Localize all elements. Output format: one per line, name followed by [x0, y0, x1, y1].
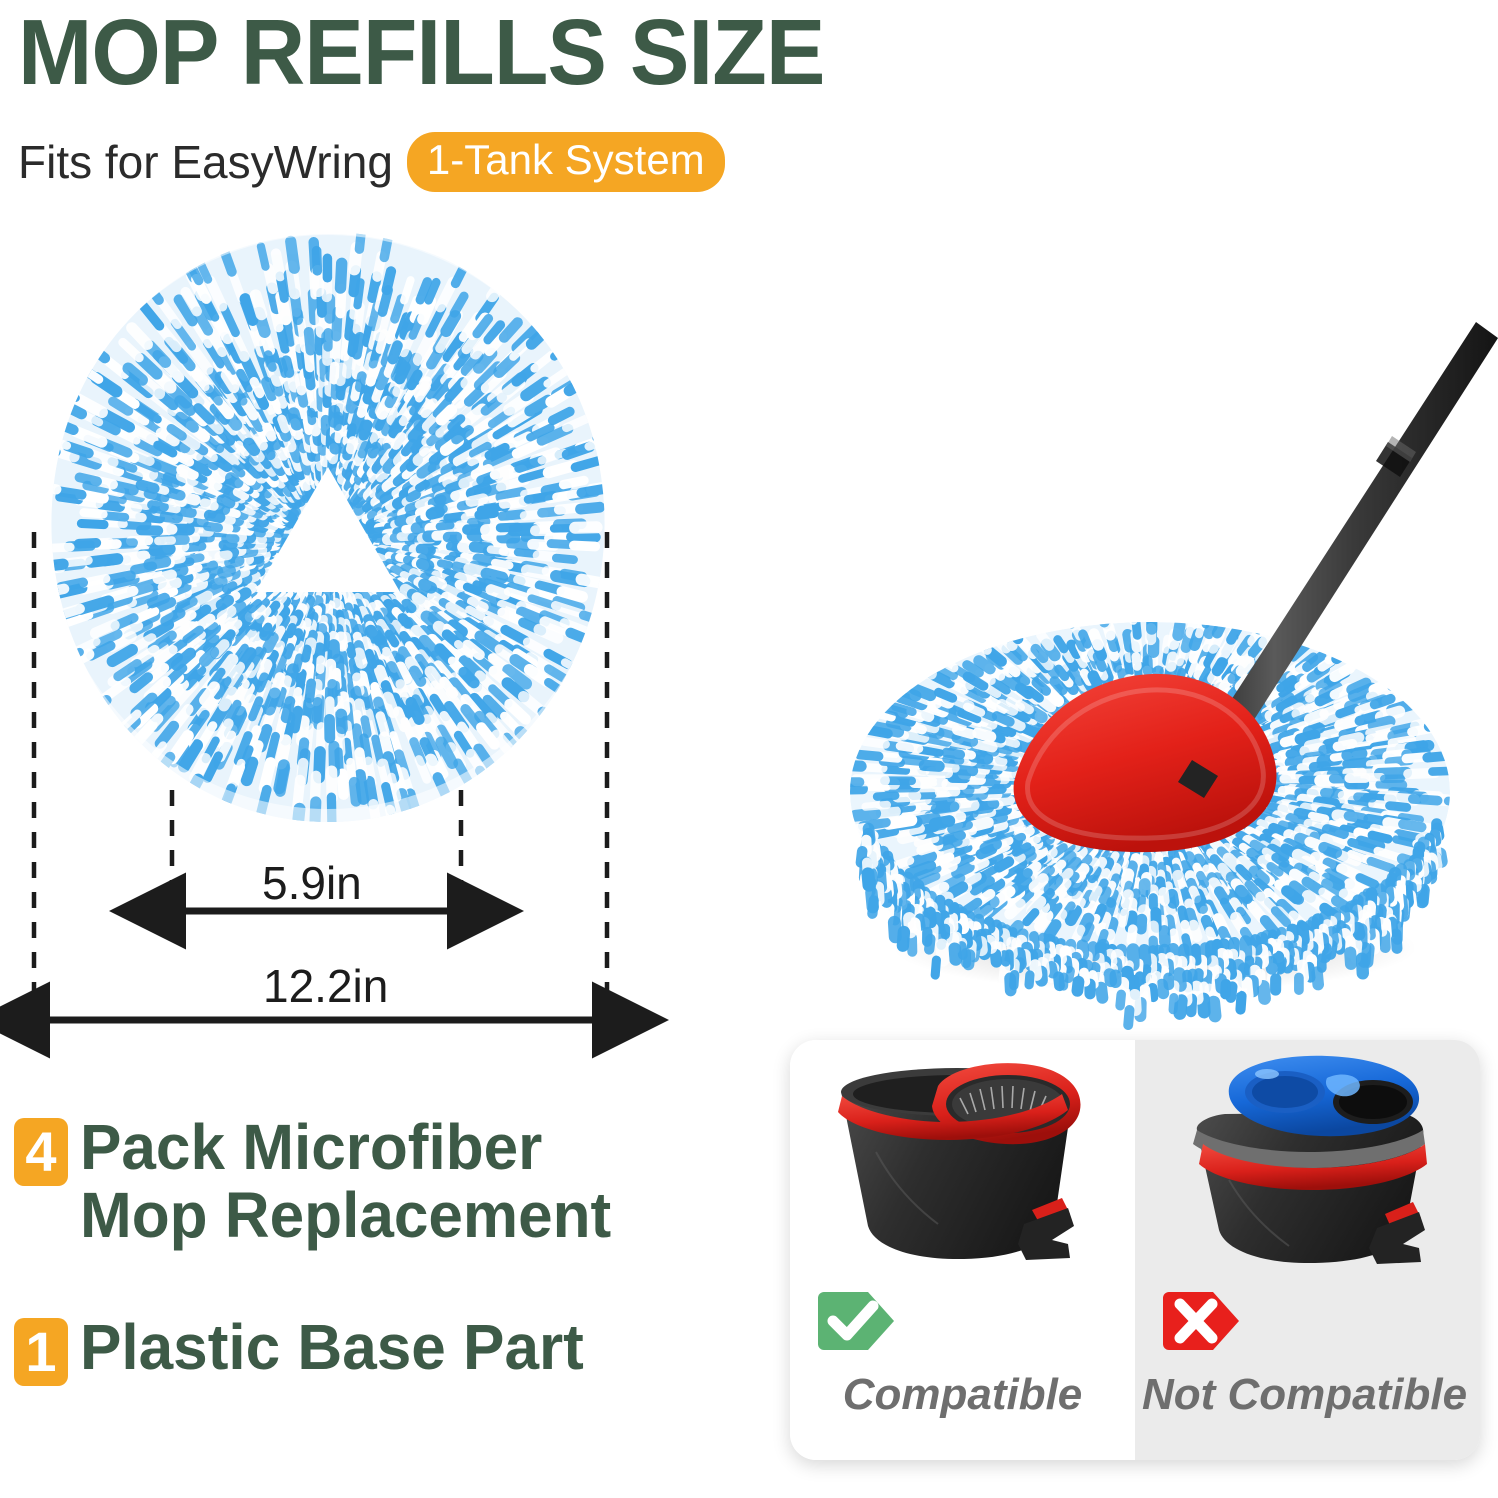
compatible-label: Compatible — [790, 1370, 1135, 1420]
cross-icon — [1161, 1288, 1243, 1354]
not-compatible-mark-row — [1135, 1288, 1480, 1354]
feature-list: 4 Pack Microfiber Mop Replacement 1 Plas… — [14, 1112, 714, 1386]
assembled-mop-photo — [800, 330, 1498, 1030]
feature-base-line1: Plastic Base Part — [80, 1312, 584, 1382]
dimension-guides: 5.9in 12.2in — [0, 0, 700, 1060]
not-compatible-bucket-photo — [1135, 1040, 1480, 1288]
count-badge-1: 1 — [14, 1318, 68, 1386]
feature-pack-line1: Pack Microfiber — [80, 1112, 611, 1182]
compatible-mark-row — [790, 1288, 1135, 1354]
check-icon — [816, 1288, 898, 1354]
not-compatible-column: Not Compatible — [1135, 1040, 1480, 1460]
count-badge-4: 4 — [14, 1118, 68, 1186]
infographic-canvas: MOP REFILLS SIZE Fits for EasyWring 1-Ta… — [0, 0, 1498, 1498]
feature-pack-line2: Mop Replacement — [80, 1180, 611, 1250]
compatibility-card: Compatible — [790, 1040, 1480, 1460]
dimension-label-width: 5.9in — [262, 857, 362, 909]
feature-item-base: 1 Plastic Base Part — [14, 1312, 714, 1386]
feature-item-pack: 4 Pack Microfiber Mop Replacement — [14, 1112, 714, 1250]
dimension-label-diameter: 12.2in — [263, 960, 388, 1012]
compatible-bucket-photo — [790, 1040, 1135, 1288]
not-compatible-label: Not Compatible — [1132, 1370, 1480, 1420]
compatible-column: Compatible — [790, 1040, 1135, 1460]
